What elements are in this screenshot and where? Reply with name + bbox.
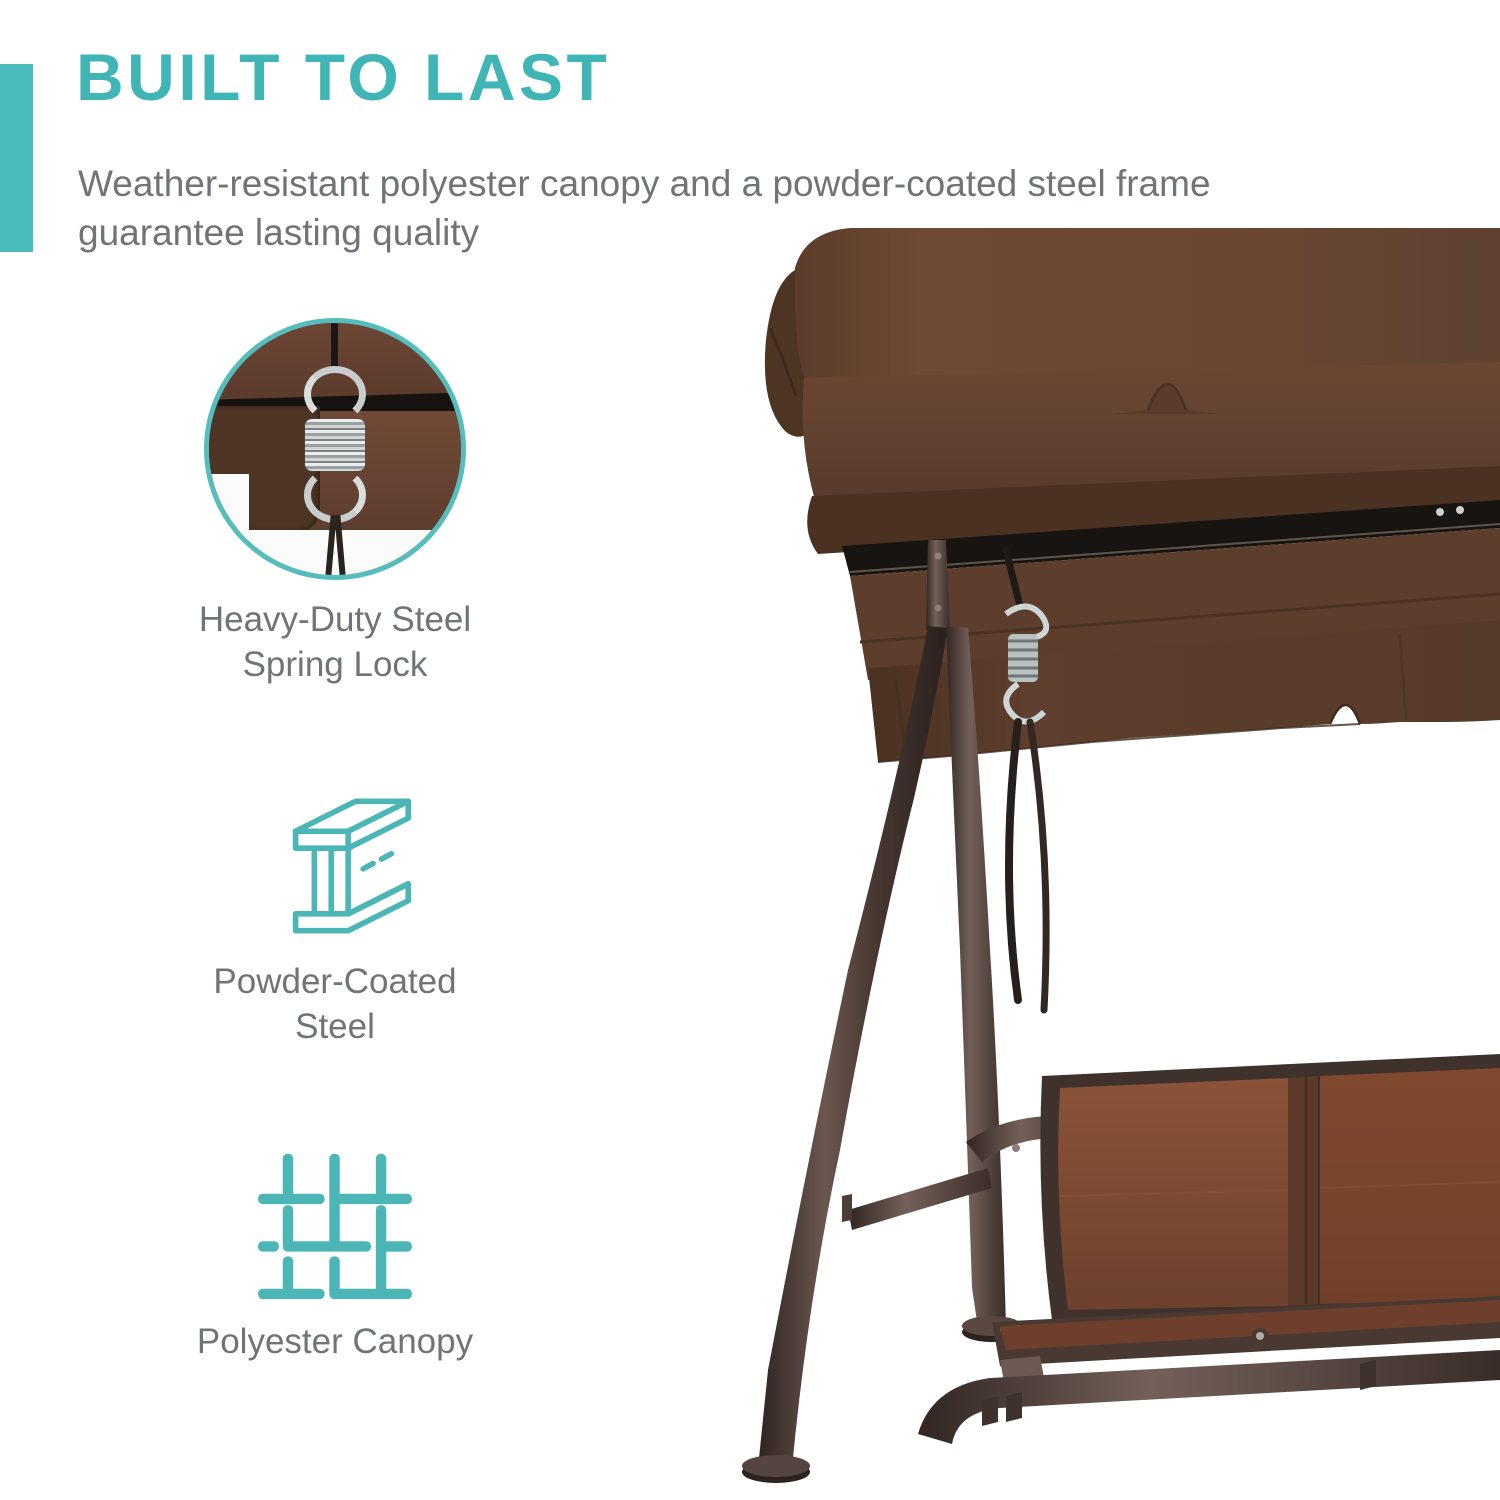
feature-label: Powder-Coated Steel (40, 960, 630, 1050)
feature-spring-lock: Heavy-Duty Steel Spring Lock (40, 318, 630, 688)
armrest-bolt (1012, 1144, 1020, 1152)
s-hook-upper-icon (304, 366, 366, 422)
sleeve-bolt-2 (935, 605, 942, 612)
seat-hinge-pin (1256, 1332, 1264, 1340)
feature-label: Polyester Canopy (40, 1320, 630, 1365)
feature-powder-coated-steel: Powder-Coated Steel (40, 790, 630, 1050)
frame-leg-rear (758, 626, 948, 1468)
rail-rivet-2 (1456, 506, 1464, 514)
feature-polyester-canopy: Polyester Canopy (40, 1150, 630, 1365)
page-title: BUILT TO LAST (76, 44, 610, 110)
brace-bolt-left (842, 1194, 852, 1222)
base-rail-nub-2 (1006, 1392, 1022, 1422)
feature-label-line1: Heavy-Duty Steel (40, 598, 630, 643)
woven-mesh-icon (251, 1150, 419, 1302)
feature-label-line2: Steel (40, 1005, 630, 1050)
feature-label-line1: Powder-Coated (40, 960, 630, 1005)
hanger-strap-a (1009, 722, 1018, 1000)
s-hook-lower-icon (304, 467, 366, 523)
base-rail-nub-3 (1360, 1360, 1376, 1390)
accent-bar (0, 64, 33, 252)
feature-label-line1: Polyester Canopy (40, 1320, 630, 1365)
sleeve-bolt-1 (935, 553, 942, 560)
feature-label-line2: Spring Lock (40, 643, 630, 688)
base-rail-nub-1 (982, 1396, 998, 1426)
feature-label: Heavy-Duty Steel Spring Lock (40, 598, 630, 688)
coil-spring-icon (305, 419, 365, 471)
product-photo-porch-swing (700, 210, 1500, 1500)
foot-cap-rear-top (742, 1455, 810, 1477)
product-feature-graphic: BUILT TO LAST Weather-resistant polyeste… (0, 0, 1500, 1500)
hanger-strap-b (1030, 722, 1046, 1010)
steel-i-beam-icon (250, 790, 420, 942)
rail-rivet-1 (1436, 508, 1444, 516)
backrest-divider (1288, 1076, 1318, 1306)
photo-background-left (209, 474, 249, 575)
spring-lock-photo (204, 318, 466, 580)
